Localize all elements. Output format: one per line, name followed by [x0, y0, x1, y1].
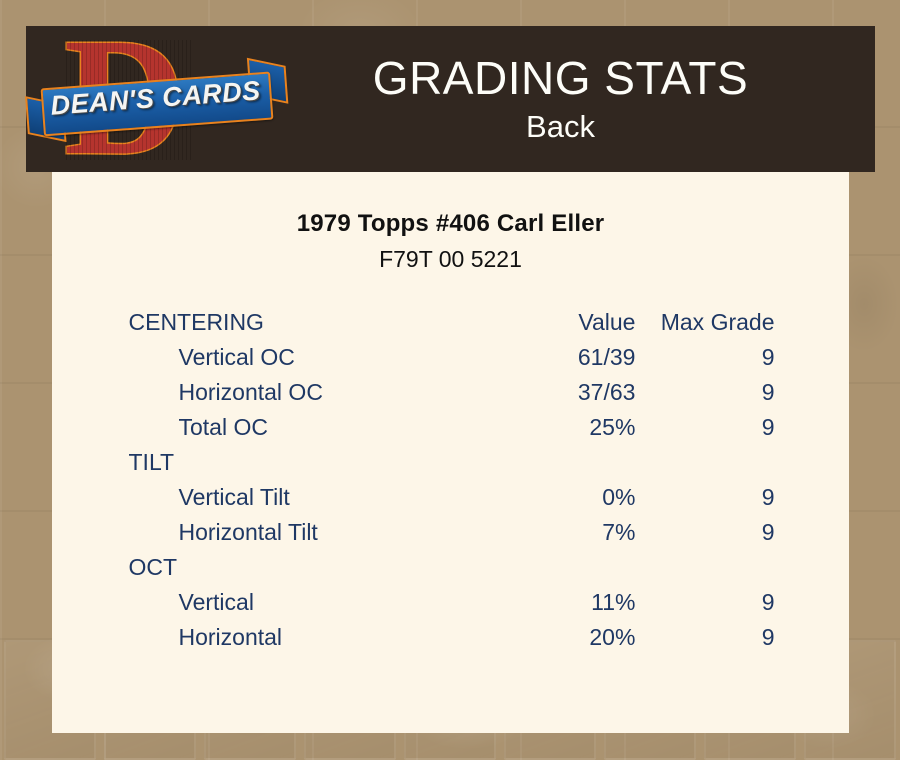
- row-label: Horizontal OC: [121, 375, 498, 410]
- row-max-grade: 9: [635, 340, 780, 375]
- deans-cards-logo[interactable]: D DEAN'S CARDS: [26, 26, 286, 172]
- header-title-group: GRADING STATS Back: [286, 51, 875, 147]
- card-serial-number: F79T 00 5221: [52, 246, 849, 273]
- section-spacer-value: [497, 550, 635, 585]
- section-header-row-tilt: TILT: [121, 445, 781, 480]
- row-label: Total OC: [121, 410, 498, 445]
- row-value: 61/39: [497, 340, 635, 375]
- table-row: Horizontal Tilt 7% 9: [121, 515, 781, 550]
- row-value: 7%: [497, 515, 635, 550]
- row-value: 0%: [497, 480, 635, 515]
- table-row: Vertical 11% 9: [121, 585, 781, 620]
- grading-stats-table: CENTERING Value Max Grade Vertical OC 61…: [121, 305, 781, 655]
- section-header-row-oct: OCT: [121, 550, 781, 585]
- row-label: Horizontal Tilt: [121, 515, 498, 550]
- page-title: GRADING STATS: [286, 51, 835, 105]
- row-max-grade: 9: [635, 585, 780, 620]
- row-max-grade: 9: [635, 515, 780, 550]
- row-label: Horizontal: [121, 620, 498, 655]
- column-header-centering: CENTERING: [121, 305, 498, 340]
- column-header-value: Value: [497, 305, 635, 340]
- row-value: 37/63: [497, 375, 635, 410]
- section-title-oct: OCT: [121, 550, 498, 585]
- table-header-row: CENTERING Value Max Grade: [121, 305, 781, 340]
- row-label: Vertical: [121, 585, 498, 620]
- row-max-grade: 9: [635, 480, 780, 515]
- page-header: D DEAN'S CARDS GRADING STATS Back: [26, 26, 875, 172]
- table-row: Vertical OC 61/39 9: [121, 340, 781, 375]
- section-spacer-value: [497, 445, 635, 480]
- row-label: Vertical OC: [121, 340, 498, 375]
- row-value: 20%: [497, 620, 635, 655]
- row-value: 25%: [497, 410, 635, 445]
- stats-table-body: Vertical OC 61/39 9 Horizontal OC 37/63 …: [121, 340, 781, 655]
- section-spacer-grade: [635, 550, 780, 585]
- content-panel: 1979 Topps #406 Carl Eller F79T 00 5221 …: [52, 172, 849, 733]
- table-row: Horizontal OC 37/63 9: [121, 375, 781, 410]
- row-max-grade: 9: [635, 410, 780, 445]
- row-value: 11%: [497, 585, 635, 620]
- column-header-max-grade: Max Grade: [635, 305, 780, 340]
- row-label: Vertical Tilt: [121, 480, 498, 515]
- page-subtitle: Back: [286, 107, 835, 147]
- section-spacer-grade: [635, 445, 780, 480]
- section-title-tilt: TILT: [121, 445, 498, 480]
- table-row: Total OC 25% 9: [121, 410, 781, 445]
- row-max-grade: 9: [635, 620, 780, 655]
- stats-table-head: CENTERING Value Max Grade: [121, 305, 781, 340]
- row-max-grade: 9: [635, 375, 780, 410]
- card-title: 1979 Topps #406 Carl Eller: [52, 210, 849, 238]
- table-row: Horizontal 20% 9: [121, 620, 781, 655]
- table-row: Vertical Tilt 0% 9: [121, 480, 781, 515]
